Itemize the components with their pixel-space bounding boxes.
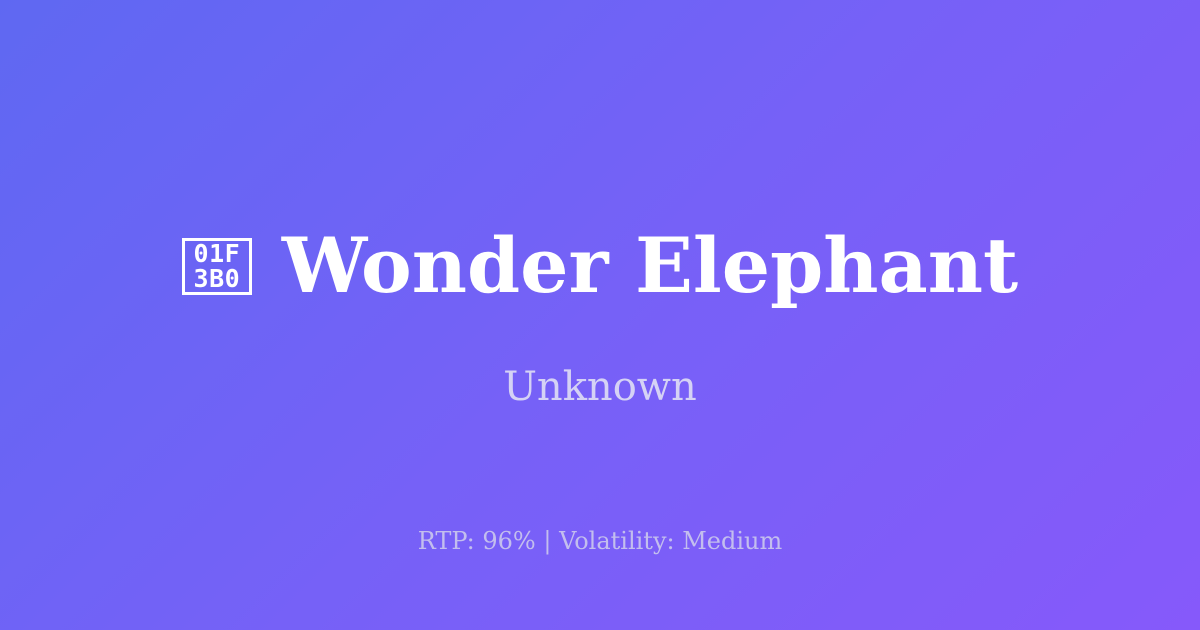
slot-machine-icon-codepoint-lower: 3B0 [194,266,241,291]
slot-machine-icon-codepoint-upper: 01F [194,241,241,266]
card-content: 01F 3B0 Wonder Elephant Unknown RTP: 96%… [0,0,1200,630]
game-provider-subtitle: Unknown [0,363,1200,411]
slot-machine-icon: 01F 3B0 [182,238,252,295]
page-title: 01F 3B0 Wonder Elephant [0,228,1200,304]
game-stats-footer: RTP: 96% | Volatility: Medium [0,527,1200,556]
game-preview-card: 01F 3B0 Wonder Elephant Unknown RTP: 96%… [0,0,1200,630]
game-title-text: Wonder Elephant [282,228,1018,304]
